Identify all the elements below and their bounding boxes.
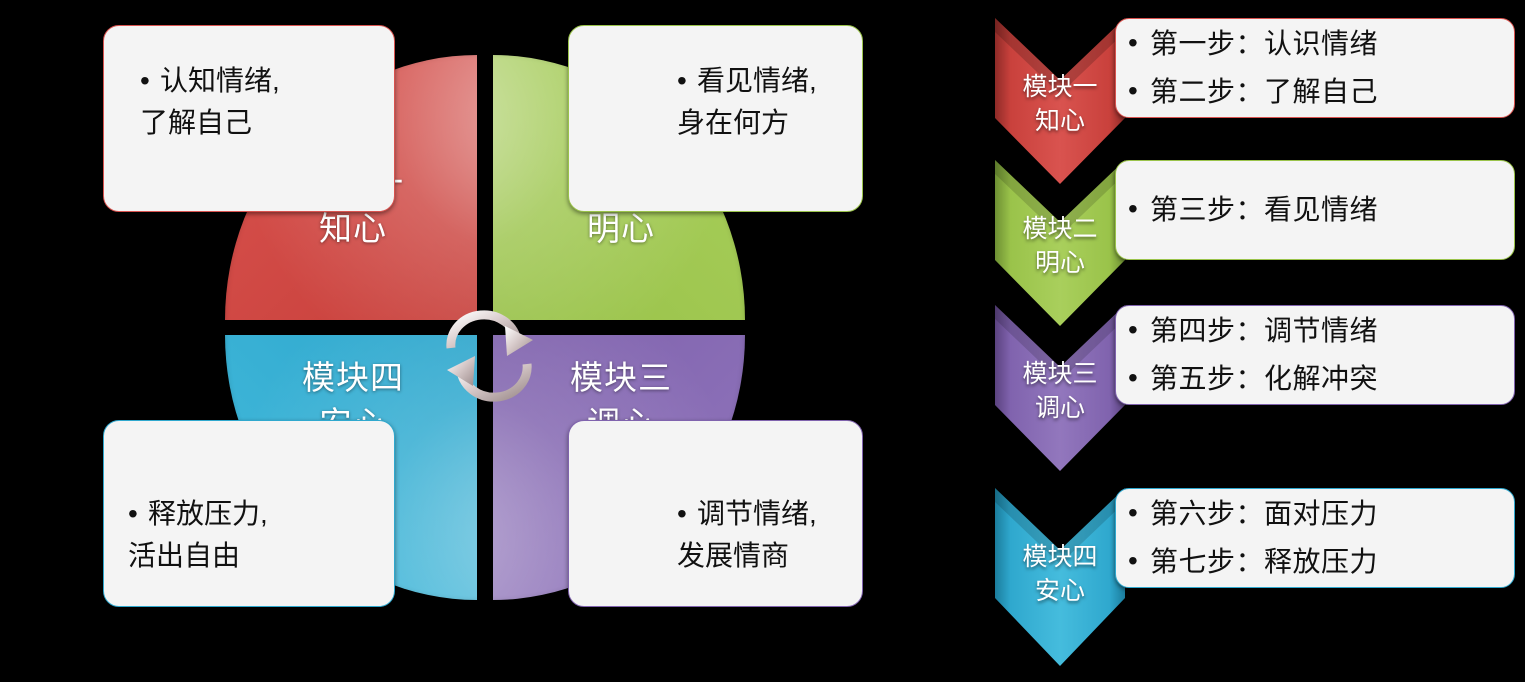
bullet-icon: •	[677, 493, 687, 535]
slide-canvas: 模块一 知心 模块二 明心 模块三 调心 模块四 安心	[0, 0, 1525, 682]
bullet-icon: •	[677, 60, 687, 102]
chevron-module-4[interactable]	[995, 488, 1125, 668]
bullet-icon: •	[128, 493, 138, 535]
callout-module-2-text: •看见情绪, 身在何方	[677, 60, 862, 144]
callout-module-1: •认知情绪, 了解自己	[103, 25, 395, 212]
callout-module-3: •调节情绪, 发展情商	[568, 420, 863, 607]
step-box-module-1: 第一步：认识情绪 第二步：了解自己	[1115, 18, 1515, 118]
step-box-module-3: 第四步：调节情绪 第五步：化解冲突	[1115, 305, 1515, 405]
list-item: 第五步：化解冲突	[1116, 355, 1514, 403]
list-item: 第六步：面对压力	[1116, 490, 1514, 538]
step-box-module-2: 第三步：看见情绪	[1115, 160, 1515, 260]
callout-module-4-text: •释放压力, 活出自由	[128, 493, 394, 577]
list-item: 第七步：释放压力	[1116, 538, 1514, 586]
callout-module-2: •看见情绪, 身在何方	[568, 25, 863, 212]
list-item: 第二步：了解自己	[1116, 68, 1514, 116]
step-list: 模块一 知心 第一步：认识情绪 第二步：了解自己	[995, 0, 1525, 682]
list-item: 第三步：看见情绪	[1116, 186, 1514, 234]
callout-module-1-text: •认知情绪, 了解自己	[140, 60, 394, 144]
chevron-module-3[interactable]	[995, 305, 1125, 473]
bullet-icon: •	[140, 60, 150, 102]
callout-module-4: •释放压力, 活出自由	[103, 420, 395, 607]
list-item: 第四步：调节情绪	[1116, 307, 1514, 355]
circular-arrows-icon	[435, 290, 545, 420]
callout-module-3-text: •调节情绪, 发展情商	[677, 493, 862, 577]
step-box-module-4: 第六步：面对压力 第七步：释放压力	[1115, 488, 1515, 588]
chevron-module-2[interactable]	[995, 160, 1125, 328]
list-item: 第一步：认识情绪	[1116, 20, 1514, 68]
